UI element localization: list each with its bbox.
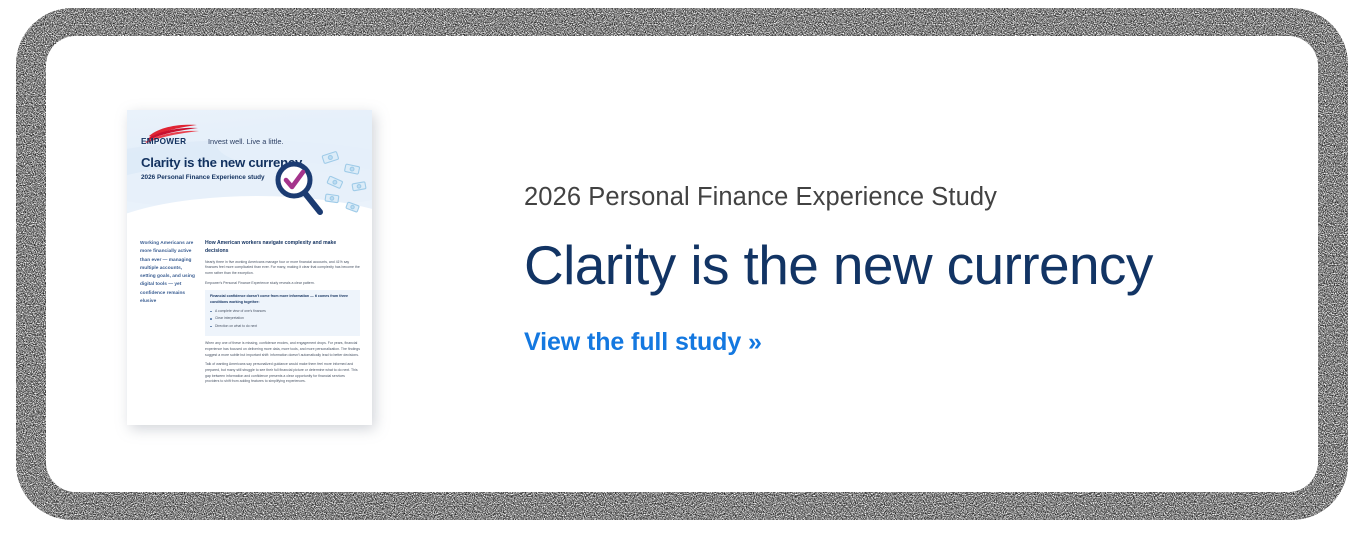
screenshot-stage: EMPOWER Invest well. Live a little. Clar… <box>0 0 1366 533</box>
empower-flag-icon: EMPOWER <box>141 122 203 146</box>
document-body-heading: How American workers navigate complexity… <box>205 240 360 256</box>
document-main-column: How American workers navigate complexity… <box>205 240 360 415</box>
document-body-intro: Nearly three in five working Americans m… <box>205 260 360 277</box>
document-body-paragraph-1: When any one of these is missing, confid… <box>205 341 360 358</box>
magnifying-glass-checkmark-icon <box>260 150 370 240</box>
document-cover-subtitle: 2026 Personal Finance Experience study <box>141 174 265 181</box>
list-item: A complete view of one's finances <box>210 309 355 314</box>
study-cover-thumbnail[interactable]: EMPOWER Invest well. Live a little. Clar… <box>127 110 372 425</box>
content-card: EMPOWER Invest well. Live a little. Clar… <box>46 36 1318 492</box>
list-item: Clear interpretation <box>210 316 355 321</box>
document-callout-heading: Financial confidence doesn't come from m… <box>210 294 355 306</box>
promo-content: 2026 Personal Finance Experience Study C… <box>524 182 1284 357</box>
document-body-paragraph-2: Talk of wanting Americans say personaliz… <box>205 362 360 385</box>
list-item: Direction on what to do next <box>210 324 355 329</box>
empower-logo: EMPOWER Invest well. Live a little. <box>141 122 284 146</box>
empower-wordmark: EMPOWER <box>141 137 186 146</box>
view-full-study-link[interactable]: View the full study » <box>524 328 762 357</box>
page-title: Clarity is the new currency <box>524 235 1284 297</box>
document-sidebar-note: Working Americans are more financially a… <box>140 240 196 306</box>
document-page: EMPOWER Invest well. Live a little. Clar… <box>127 110 372 425</box>
document-body: Working Americans are more financially a… <box>127 226 372 425</box>
document-callout-box: Financial confidence doesn't come from m… <box>205 290 360 336</box>
document-callout-list: A complete view of one's finances Clear … <box>210 309 355 329</box>
document-sidebar-note-column: Working Americans are more financially a… <box>140 240 196 415</box>
study-eyebrow-label: 2026 Personal Finance Experience Study <box>524 182 1284 213</box>
document-body-source-line: Empower's Personal Finance Experience st… <box>205 281 360 287</box>
empower-tagline: Invest well. Live a little. <box>208 137 284 147</box>
